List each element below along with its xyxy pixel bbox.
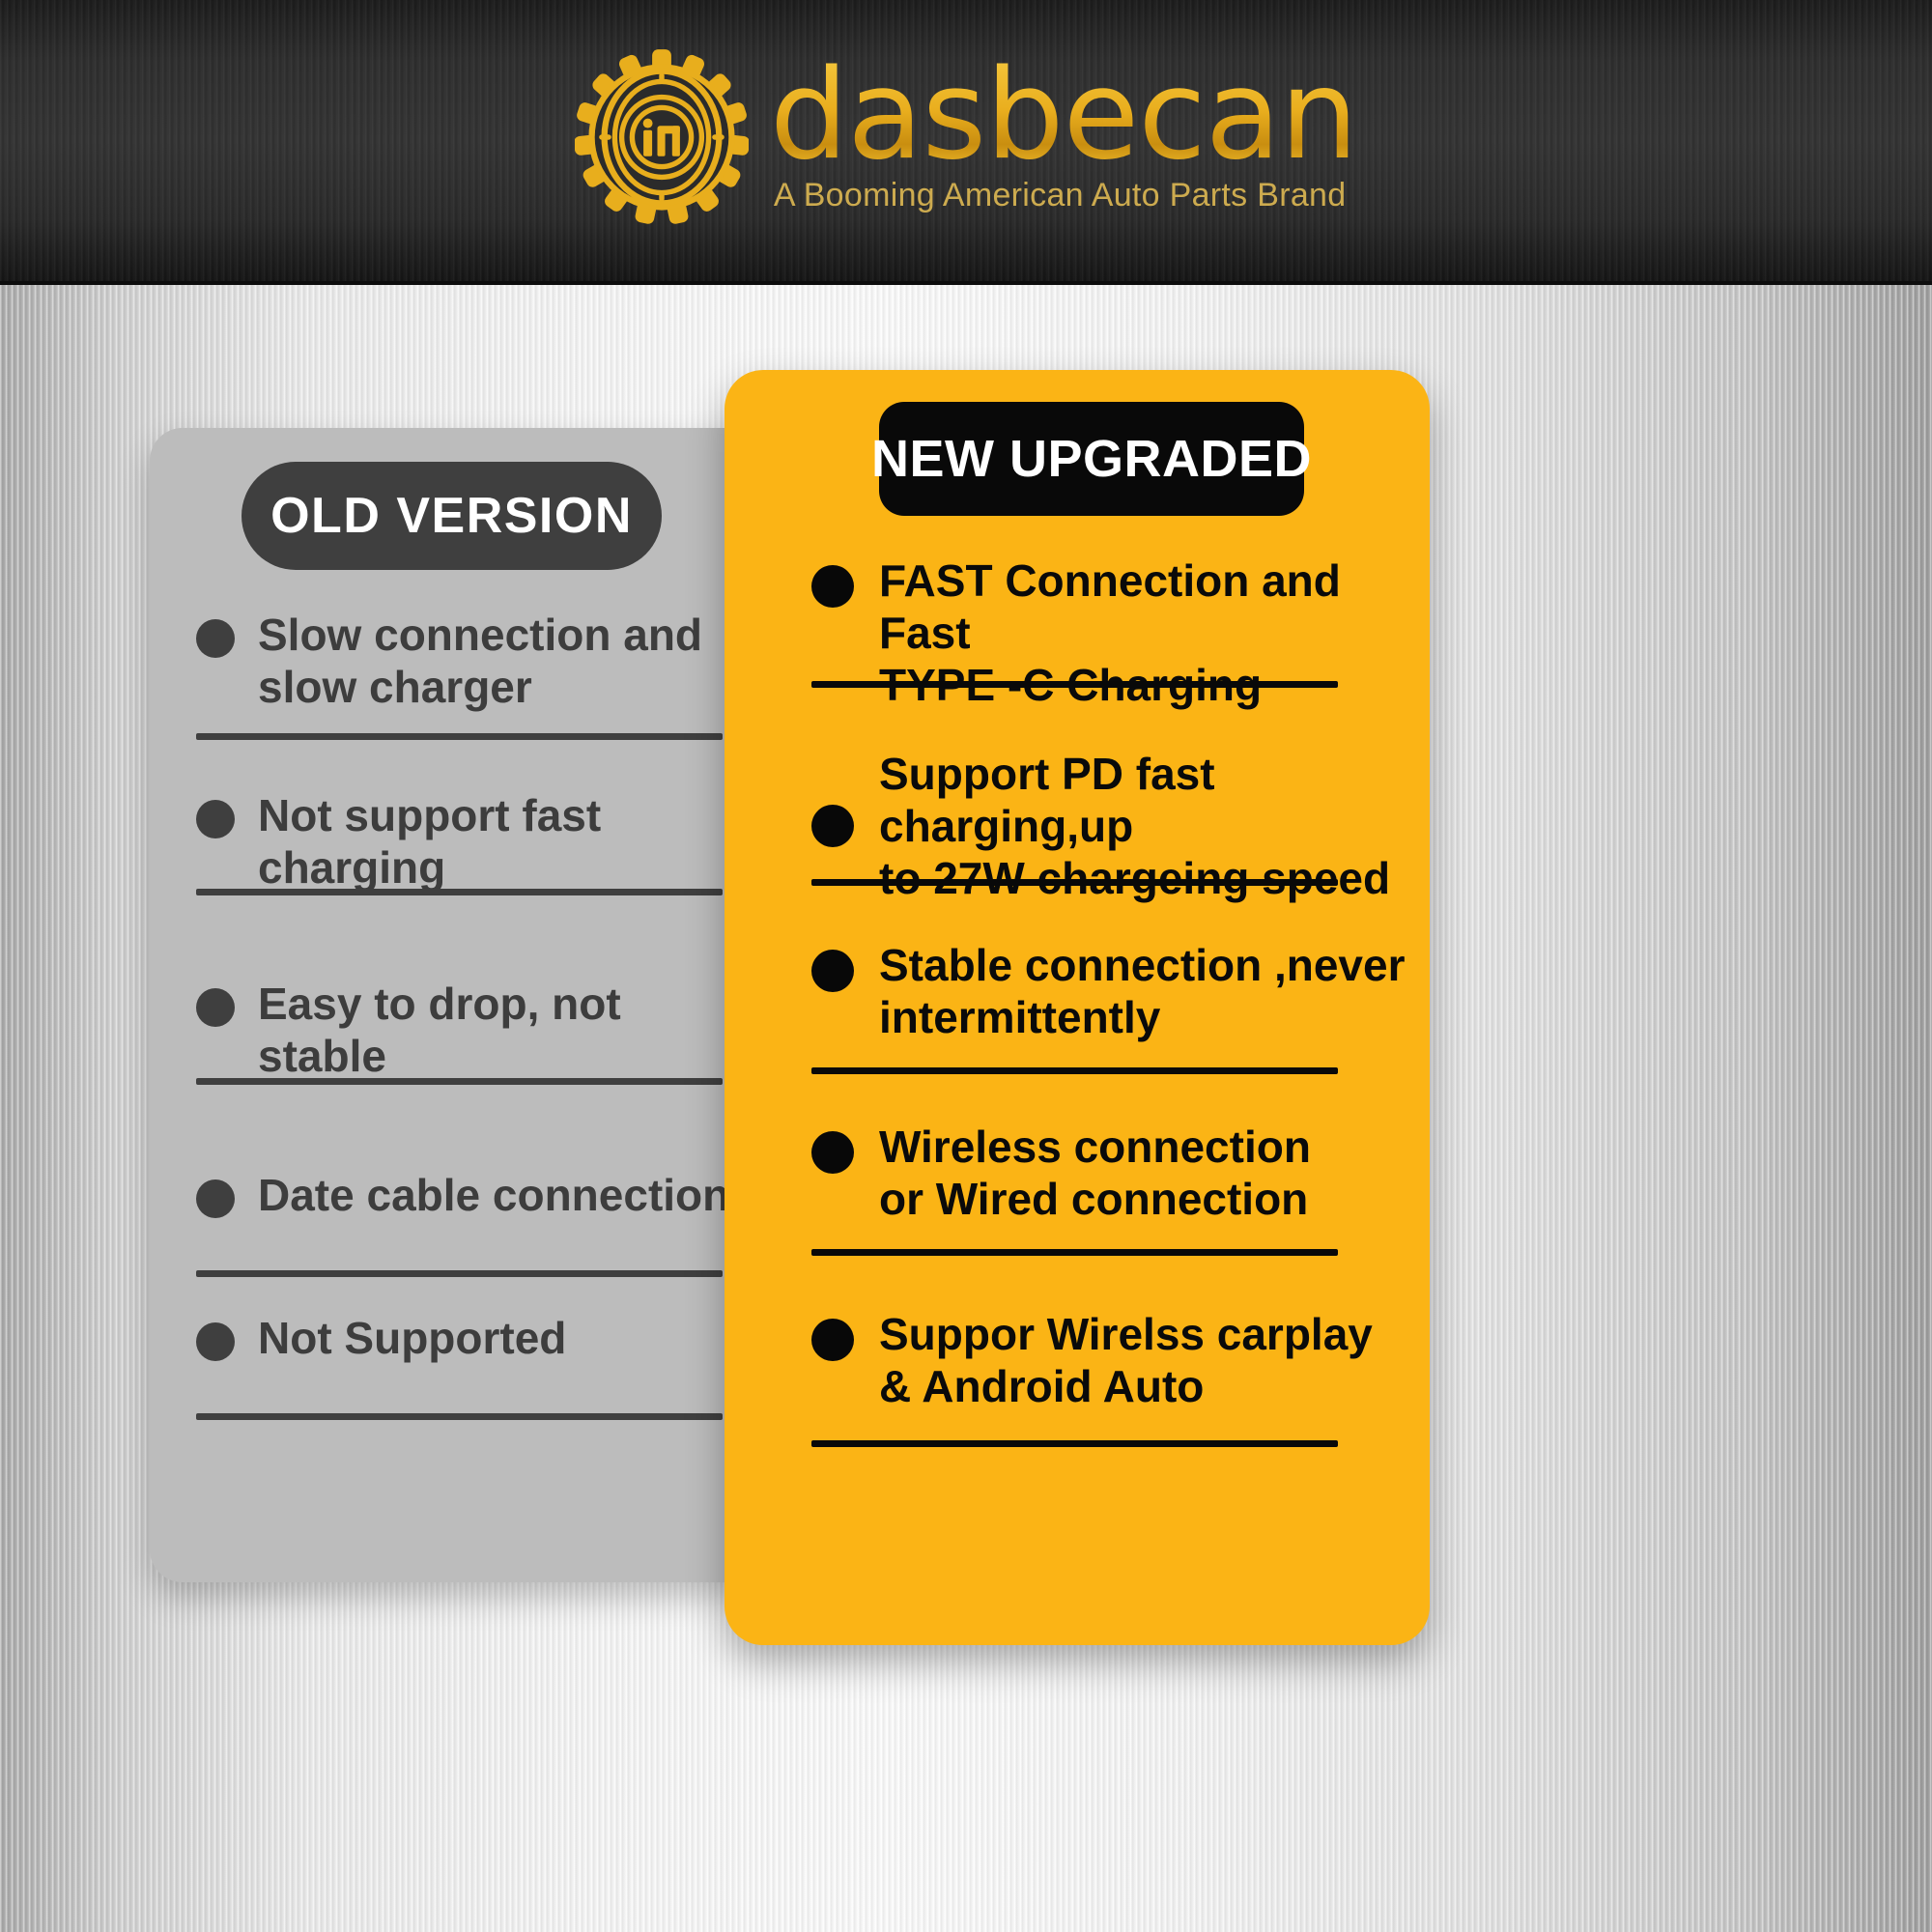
old-version-badge: OLD VERSION xyxy=(241,462,662,570)
divider xyxy=(811,1440,1338,1447)
divider xyxy=(196,1078,723,1085)
list-item-line1: FAST Connection and Fast xyxy=(879,555,1341,658)
list-item-label: Suppor Wirelss carplay & Android Auto xyxy=(879,1309,1373,1413)
brand-header: dasbecan A Booming American Auto Parts B… xyxy=(0,0,1932,285)
brand-lockup: dasbecan A Booming American Auto Parts B… xyxy=(575,45,1357,229)
list-item-line1: Support PD fast charging,up xyxy=(879,749,1215,851)
new-upgraded-card: NEW UPGRADED FAST Connection and Fast TY… xyxy=(724,370,1430,1645)
list-item: Not Supported xyxy=(196,1313,756,1365)
divider xyxy=(811,681,1338,688)
list-item-label: Not support fast charging xyxy=(258,790,756,895)
list-item-label: Wireless connection or Wired connection xyxy=(879,1122,1311,1226)
list-item-label: Easy to drop, not stable xyxy=(258,979,756,1083)
divider xyxy=(196,733,723,740)
brand-tagline: A Booming American Auto Parts Brand xyxy=(774,177,1347,214)
divider xyxy=(811,879,1338,886)
list-item-line2: or Wired connection xyxy=(879,1174,1308,1224)
list-item-line2: & Android Auto xyxy=(879,1361,1204,1411)
list-item-line2: to 27W chargeing speed xyxy=(879,853,1390,903)
divider xyxy=(196,1413,723,1420)
list-item-line1: Slow connection and xyxy=(258,610,702,660)
list-item-label: FAST Connection and Fast TYPE -C Chargin… xyxy=(879,555,1410,711)
bullet-dot-icon xyxy=(811,805,854,847)
list-item: FAST Connection and Fast TYPE -C Chargin… xyxy=(811,555,1410,711)
list-item-line2: slow charger xyxy=(258,662,532,712)
bullet-dot-icon xyxy=(811,565,854,608)
comparison-body: OLD VERSION Slow connection and slow cha… xyxy=(0,285,1932,1932)
new-upgraded-badge: NEW UPGRADED xyxy=(879,402,1304,516)
list-item-label: Date cable connection xyxy=(258,1170,729,1222)
bullet-dot-icon xyxy=(196,619,235,658)
bullet-dot-icon xyxy=(196,1179,235,1218)
list-item-line1: Suppor Wirelss carplay xyxy=(879,1309,1373,1359)
list-item-line1: Stable connection ,never xyxy=(879,940,1405,990)
bullet-dot-icon xyxy=(196,800,235,838)
list-item: Stable connection ,never intermittently xyxy=(811,940,1430,1044)
list-item: Suppor Wirelss carplay & Android Auto xyxy=(811,1309,1430,1413)
bullet-dot-icon xyxy=(811,1319,854,1361)
list-item-label: Not Supported xyxy=(258,1313,566,1365)
brand-wordmark-block: dasbecan A Booming American Auto Parts B… xyxy=(770,59,1357,214)
list-item: Not support fast charging xyxy=(196,790,756,895)
list-item-label: Slow connection and slow charger xyxy=(258,610,702,714)
comparison-infographic: dasbecan A Booming American Auto Parts B… xyxy=(0,0,1932,1932)
gear-emblem-icon xyxy=(575,45,749,229)
divider xyxy=(811,1067,1338,1074)
list-item-label: Stable connection ,never intermittently xyxy=(879,940,1405,1044)
list-item: Wireless connection or Wired connection xyxy=(811,1122,1430,1226)
list-item-line1: Wireless connection xyxy=(879,1122,1311,1172)
list-item-line2: intermittently xyxy=(879,992,1160,1042)
list-item: Date cable connection xyxy=(196,1170,756,1222)
old-version-card: OLD VERSION Slow connection and slow cha… xyxy=(150,428,768,1582)
divider xyxy=(196,1270,723,1277)
divider xyxy=(196,889,723,895)
bullet-dot-icon xyxy=(196,988,235,1027)
divider xyxy=(811,1249,1338,1256)
bullet-dot-icon xyxy=(196,1322,235,1361)
brand-name: dasbecan xyxy=(770,59,1357,173)
bullet-dot-icon xyxy=(811,1131,854,1174)
bullet-dot-icon xyxy=(811,950,854,992)
list-item: Slow connection and slow charger xyxy=(196,610,737,714)
list-item: Easy to drop, not stable xyxy=(196,979,756,1083)
